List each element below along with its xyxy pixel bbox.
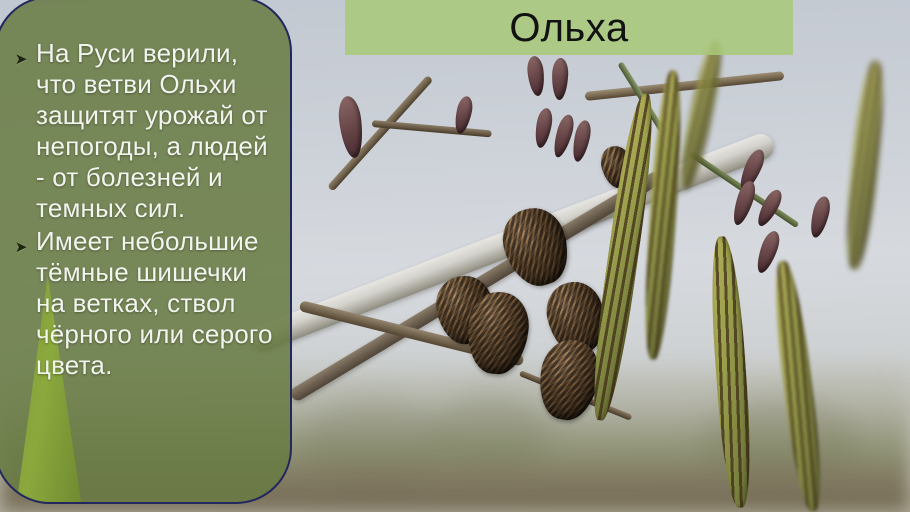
presentation-slide: Ольха ➤ На Руси верили, что ветви Ольхи … — [0, 0, 910, 512]
arrow-bullet-icon: ➤ — [6, 38, 36, 67]
arrow-bullet-icon: ➤ — [6, 226, 36, 255]
bullet-list: ➤ На Руси верили, что ветви Ольхи защитя… — [6, 38, 282, 383]
page-title: Ольха — [345, 0, 793, 55]
text-panel: ➤ На Руси верили, что ветви Ольхи защитя… — [0, 0, 292, 504]
bullet-text: Имеет небольшие тёмные шишечки на ветках… — [36, 226, 282, 381]
bullet-text: На Руси верили, что ветви Ольхи защитят … — [36, 38, 282, 224]
list-item: ➤ На Руси верили, что ветви Ольхи защитя… — [6, 38, 282, 224]
list-item: ➤ Имеет небольшие тёмные шишечки на ветк… — [6, 226, 282, 381]
